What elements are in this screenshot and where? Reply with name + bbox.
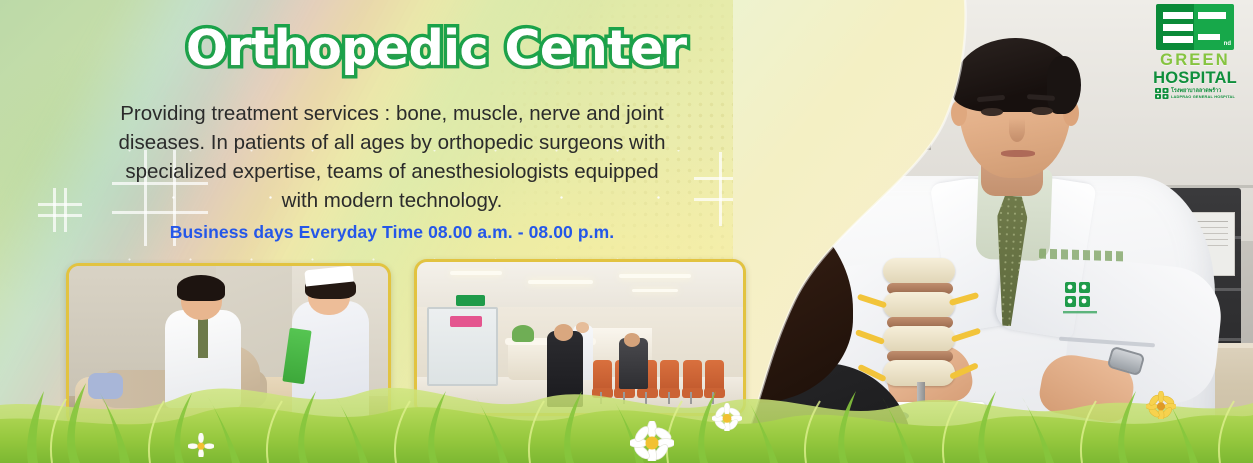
daisy-flower-icon [712, 403, 742, 431]
logo-subtitle: โรงพยาบาลลาดพร้าว LADPRAO GENERAL HOSPIT… [1147, 88, 1243, 99]
orthopedic-center-banner: Orthopedic Center Orthopedic Center Prov… [0, 0, 1253, 463]
logo-emblem-icon [1155, 88, 1169, 99]
hospital-logo[interactable]: nd GREEN HOSPITAL โรงพยาบาลลาดพร้าว LADP… [1147, 4, 1243, 104]
description-line: with modern technology. [62, 186, 722, 215]
page-title: Orthopedic Center [186, 20, 686, 77]
logo-mark-icon: nd [1156, 4, 1234, 50]
logo-text-hospital: HOSPITAL [1147, 69, 1243, 87]
coat-hospital-emblem [1059, 278, 1103, 318]
daisy-flower-icon [188, 433, 214, 457]
logo-text-green: GREEN [1147, 51, 1243, 69]
description-text: Providing treatment services : bone, mus… [62, 99, 722, 215]
description-line: Providing treatment services : bone, mus… [62, 99, 722, 128]
description-line: specialized expertise, teams of anesthes… [62, 157, 722, 186]
logo-superscript: nd [1224, 41, 1231, 47]
logo-english-name: LADPRAO GENERAL HOSPITAL [1171, 94, 1235, 99]
description-line: diseases. In patients of all ages by ort… [62, 128, 722, 157]
business-hours-text: Business days Everyday Time 08.00 a.m. -… [62, 222, 722, 243]
daisy-flower-icon [630, 421, 674, 461]
daisy-flower-icon [1146, 391, 1176, 419]
